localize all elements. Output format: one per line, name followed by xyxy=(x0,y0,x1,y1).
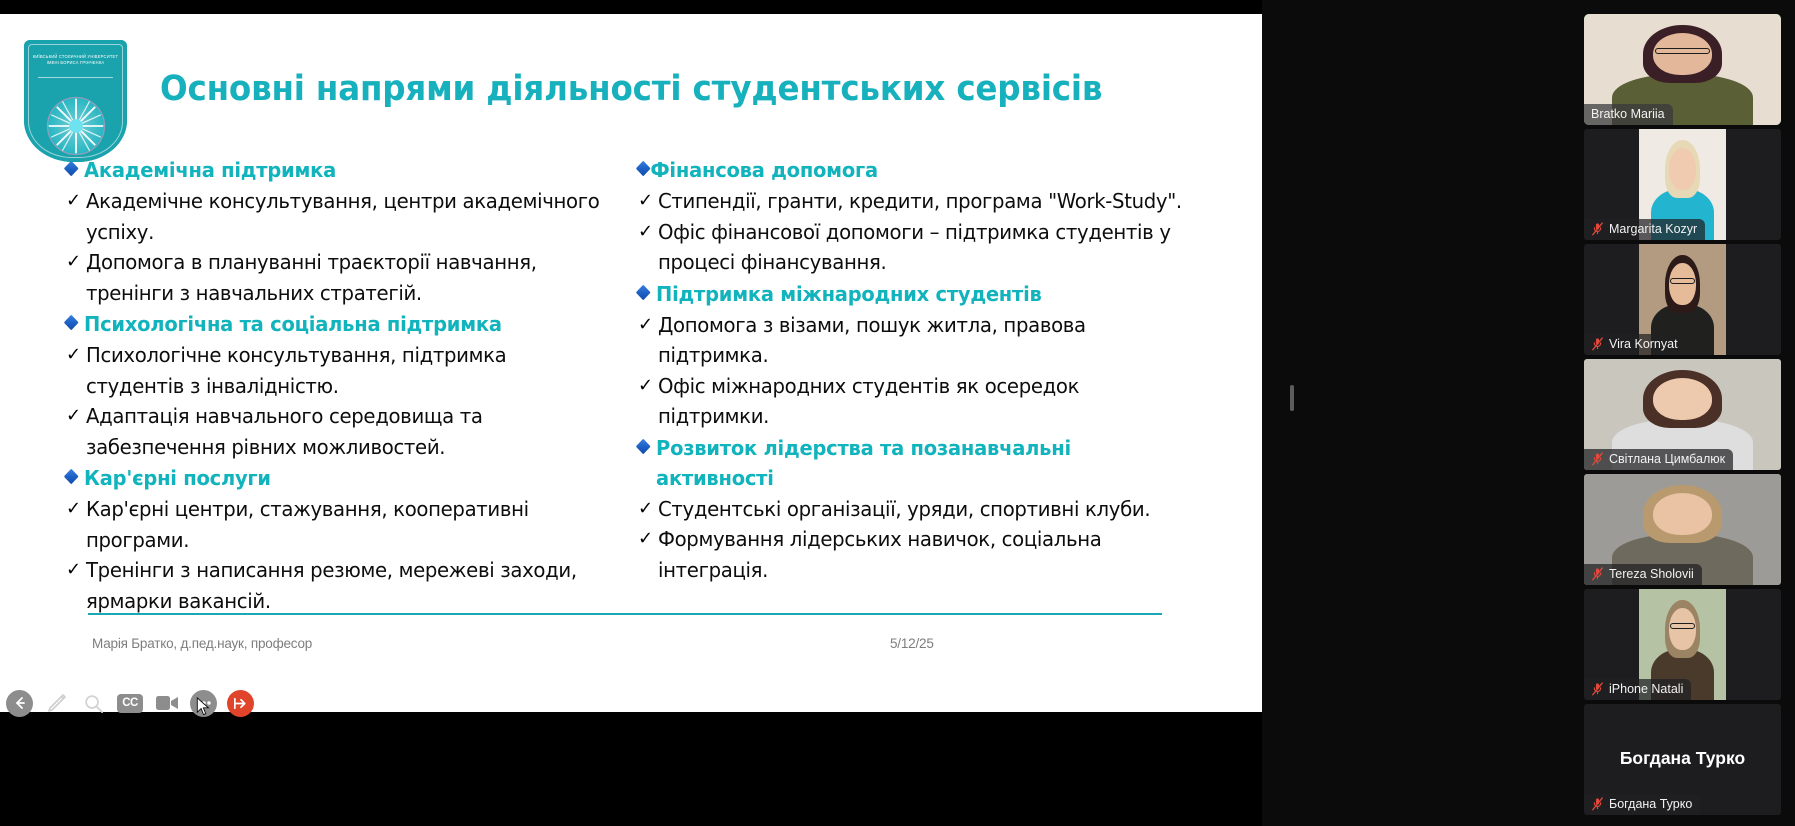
stop-share-button[interactable] xyxy=(227,690,254,717)
slide-bullet-text: Адаптація навчального середовища та забе… xyxy=(86,401,604,462)
slide-bullet-item: ✓Формування лідерських навичок, соціальн… xyxy=(638,524,1218,585)
university-logo: КИЇВСЬКИЙ СТОЛИЧНИЙ УНІВЕРСИТЕТ ІМЕНІ БО… xyxy=(24,40,127,162)
muted-microphone-icon xyxy=(1591,452,1604,466)
participant-tile[interactable]: Богдана ТуркоБогдана Турко xyxy=(1584,704,1781,815)
slide-group-heading-label: Розвиток лідерства та позанавчальні акти… xyxy=(656,433,1189,493)
slide-column-right: Фінансова допомога✓Стипендії, гранти, кр… xyxy=(638,155,1218,586)
participant-glasses xyxy=(1670,278,1694,284)
muted-microphone-icon xyxy=(1591,682,1604,696)
slide-group-heading: Академічна підтримка xyxy=(66,155,598,185)
participant-nameplate: Богдана Турко xyxy=(1584,794,1700,815)
participant-display-name: Богдана Турко xyxy=(1584,747,1781,768)
logo-star-emblem xyxy=(45,95,107,157)
slide-group: Кар'єрні послуги✓Кар'єрні центри, стажув… xyxy=(66,463,626,616)
checkmark-icon: ✓ xyxy=(66,340,83,371)
participant-tile[interactable]: Bratko Mariia xyxy=(1584,14,1781,125)
participant-face xyxy=(1653,493,1712,535)
slide-bullet-item: ✓Допомога в плануванні траєкторії навчан… xyxy=(66,247,626,308)
participant-tile[interactable]: iPhone Natali xyxy=(1584,589,1781,700)
slide-bullet-item: ✓Академічне консультування, центри акаде… xyxy=(66,186,626,247)
slide-bullet-text: Офіс міжнародних студентів як осередок п… xyxy=(658,371,1196,432)
participant-tile[interactable]: Margarita Kozyr xyxy=(1584,129,1781,240)
participant-tile[interactable]: Tereza Sholovii xyxy=(1584,474,1781,585)
participant-tile[interactable]: Світлана Цимбалюк xyxy=(1584,359,1781,470)
presentation-slide: КИЇВСЬКИЙ СТОЛИЧНИЙ УНІВЕРСИТЕТ ІМЕНІ БО… xyxy=(0,14,1262,712)
zoom-meeting-window: КИЇВСЬКИЙ СТОЛИЧНИЙ УНІВЕРСИТЕТ ІМЕНІ БО… xyxy=(0,0,1795,826)
closed-captions-button[interactable]: CC xyxy=(117,694,143,713)
page-title: Основні напрями діяльності студентських … xyxy=(160,67,1137,111)
slide-group-heading: Розвиток лідерства та позанавчальні акти… xyxy=(638,433,1189,493)
participant-nameplate: iPhone Natali xyxy=(1584,679,1691,700)
participant-face xyxy=(1653,378,1712,420)
search-icon[interactable] xyxy=(80,690,107,717)
slide-column-left: Академічна підтримка✓Академічне консульт… xyxy=(66,155,626,617)
slide-group-heading: Фінансова допомога xyxy=(638,155,1189,185)
footer-author: Марія Братко, д.пед.наук, професор xyxy=(92,636,312,651)
logo-shield-shape: КИЇВСЬКИЙ СТОЛИЧНИЙ УНІВЕРСИТЕТ ІМЕНІ БО… xyxy=(24,40,127,162)
slide-bullet-text: Допомога в плануванні траєкторії навчанн… xyxy=(86,247,604,308)
letterbox-right xyxy=(1262,0,1570,826)
more-options-icon[interactable] xyxy=(190,690,217,717)
participant-name-label: Богдана Турко xyxy=(1609,797,1692,811)
slide-group-heading-label: Академічна підтримка xyxy=(84,155,336,185)
diamond-bullet-icon xyxy=(64,315,79,331)
slide-group-heading: Психологічна та соціальна підтримка xyxy=(66,309,598,339)
slide-bullet-item: ✓Допомога з візами, пошук житла, правова… xyxy=(638,310,1218,371)
footer-date: 5/12/25 xyxy=(890,636,934,651)
checkmark-icon: ✓ xyxy=(66,401,83,432)
checkmark-icon: ✓ xyxy=(638,186,655,217)
slide-bullet-item: ✓Психологічне консультування, підтримка … xyxy=(66,340,626,401)
slide-group-heading: Підтримка міжнародних студентів xyxy=(638,279,1189,309)
slide-bullet-text: Тренінги з написання резюме, мережеві за… xyxy=(86,555,604,616)
checkmark-icon: ✓ xyxy=(638,310,655,341)
checkmark-icon: ✓ xyxy=(66,186,83,217)
slide-bullet-item: ✓Студентські організації, уряди, спортив… xyxy=(638,494,1218,525)
participant-video-panel[interactable]: Bratko MariiaMargarita KozyrVira Kornyat… xyxy=(1570,0,1795,826)
recording-camera-icon[interactable] xyxy=(153,692,180,714)
slide-bullet-text: Офіс фінансової допомоги – підтримка сту… xyxy=(658,217,1196,278)
checkmark-icon: ✓ xyxy=(638,524,655,555)
participant-name-label: Vira Kornyat xyxy=(1609,337,1678,351)
magnifier-glyph xyxy=(82,692,105,715)
participant-face xyxy=(1669,148,1695,190)
checkmark-icon: ✓ xyxy=(638,371,655,402)
diamond-bullet-icon xyxy=(636,161,651,177)
participant-tile[interactable]: Vira Kornyat xyxy=(1584,244,1781,355)
diamond-bullet-icon xyxy=(64,469,79,485)
video-camera-glyph xyxy=(154,693,180,713)
slide-group: Фінансова допомога✓Стипендії, гранти, кр… xyxy=(638,155,1218,278)
participant-nameplate: Margarita Kozyr xyxy=(1584,219,1705,240)
pencil-glyph xyxy=(45,691,69,715)
shared-screen-region[interactable]: КИЇВСЬКИЙ СТОЛИЧНИЙ УНІВЕРСИТЕТ ІМЕНІ БО… xyxy=(0,0,1570,826)
share-toolbar[interactable]: CC xyxy=(6,683,254,723)
slide-group: Розвиток лідерства та позанавчальні акти… xyxy=(638,433,1218,586)
checkmark-icon: ✓ xyxy=(66,247,83,278)
slide-bullet-item: ✓Офіс міжнародних студентів як осередок … xyxy=(638,371,1218,432)
slide-bullet-text: Студентські організації, уряди, спортивн… xyxy=(658,494,1196,525)
slide-bullet-text: Академічне консультування, центри академ… xyxy=(86,186,604,247)
logo-text-line2: ІМЕНІ БОРИСА ГРІНЧЕНКА xyxy=(31,60,120,66)
participant-glasses xyxy=(1655,48,1710,54)
diamond-bullet-icon xyxy=(636,284,651,300)
participant-nameplate: Bratko Mariia xyxy=(1584,104,1673,125)
slide-bullet-text: Стипендії, гранти, кредити, програма "Wo… xyxy=(658,186,1196,217)
slide-group-heading-label: Психологічна та соціальна підтримка xyxy=(84,309,502,339)
footer-divider xyxy=(88,613,1162,615)
participant-name-label: iPhone Natali xyxy=(1609,682,1683,696)
slide-group-heading-label: Підтримка міжнародних студентів xyxy=(656,279,1042,309)
slide-group: Психологічна та соціальна підтримка✓Псих… xyxy=(66,309,626,462)
participant-name-label: Tereza Sholovii xyxy=(1609,567,1694,581)
checkmark-icon: ✓ xyxy=(638,217,655,248)
checkmark-icon: ✓ xyxy=(66,555,83,586)
back-arrow-icon[interactable] xyxy=(6,690,33,717)
checkmark-icon: ✓ xyxy=(638,494,655,525)
checkmark-icon: ✓ xyxy=(66,494,83,525)
participant-nameplate: Tereza Sholovii xyxy=(1584,564,1702,585)
slide-group-heading: Кар'єрні послуги xyxy=(66,463,598,493)
logo-divider xyxy=(38,77,113,78)
slide-bullet-item: ✓Кар'єрні центри, стажування, кооператив… xyxy=(66,494,626,555)
muted-microphone-icon xyxy=(1591,797,1604,811)
muted-microphone-icon xyxy=(1591,337,1604,351)
slide-bullet-text: Кар'єрні центри, стажування, кооперативн… xyxy=(86,494,604,555)
back-arrow-glyph xyxy=(12,695,28,711)
participant-name-label: Bratko Mariia xyxy=(1591,107,1665,121)
participant-nameplate: Vira Kornyat xyxy=(1584,334,1686,355)
slide-bullet-text: Допомога з візами, пошук житла, правова … xyxy=(658,310,1196,371)
slide-bullet-text: Формування лідерських навичок, соціальна… xyxy=(658,524,1196,585)
slide-group-heading-label: Фінансова допомога xyxy=(650,155,877,185)
muted-microphone-icon xyxy=(1591,567,1604,581)
participant-glasses xyxy=(1670,623,1694,629)
diamond-bullet-icon xyxy=(64,161,79,177)
ellipsis-glyph xyxy=(195,694,213,712)
slide-group: Академічна підтримка✓Академічне консульт… xyxy=(66,155,626,308)
share-exit-glyph xyxy=(232,695,249,712)
slide-bullet-item: ✓Стипендії, гранти, кредити, програма "W… xyxy=(638,186,1218,217)
slide-group-heading-label: Кар'єрні послуги xyxy=(84,463,271,493)
diamond-bullet-icon xyxy=(636,438,651,454)
participant-name-label: Світлана Цимбалюк xyxy=(1609,452,1725,466)
slide-bullet-item: ✓Офіс фінансової допомоги – підтримка ст… xyxy=(638,217,1218,278)
slide-bullet-item: ✓Адаптація навчального середовища та заб… xyxy=(66,401,626,462)
slide-group: Підтримка міжнародних студентів✓Допомога… xyxy=(638,279,1218,432)
participant-nameplate: Світлана Цимбалюк xyxy=(1584,449,1733,470)
annotate-pencil-icon[interactable] xyxy=(43,690,70,717)
slide-bullet-item: ✓Тренінги з написання резюме, мережеві з… xyxy=(66,555,626,616)
muted-microphone-icon xyxy=(1591,222,1604,236)
panel-resize-handle[interactable] xyxy=(1290,385,1294,411)
participant-name-label: Margarita Kozyr xyxy=(1609,222,1697,236)
slide-bullet-text: Психологічне консультування, підтримка с… xyxy=(86,340,604,401)
